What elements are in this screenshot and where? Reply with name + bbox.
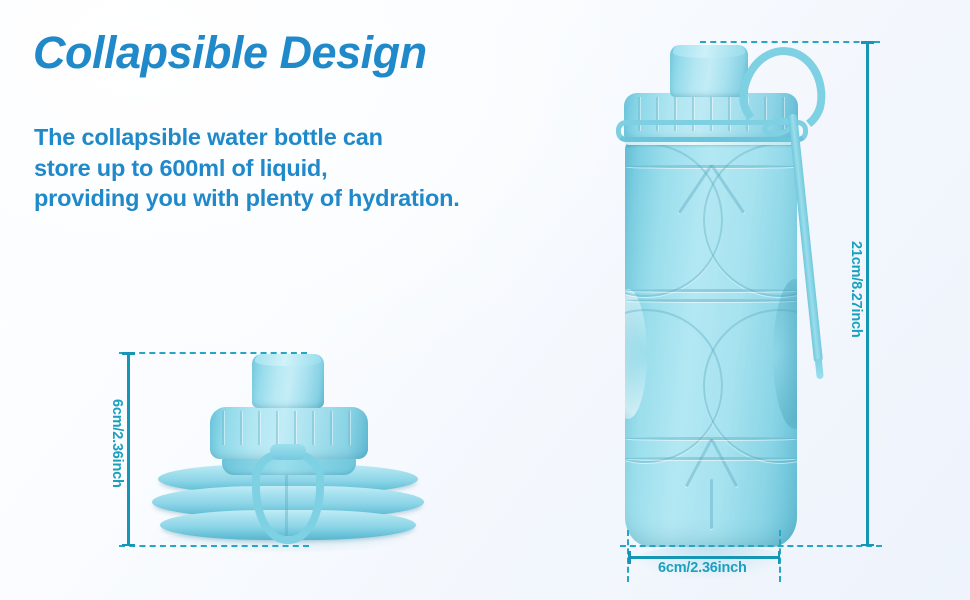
- bottle-folded-strap-knot: [270, 444, 306, 460]
- bottle-expanded-image: [612, 42, 827, 547]
- description-line-1: The collapsible water bottle can: [34, 122, 460, 153]
- description-text: The collapsible water bottle can store u…: [34, 122, 460, 214]
- dimension-line-width-bottom: [628, 556, 780, 559]
- dimension-label-width-bottom: 6cm/2.36inch: [658, 560, 747, 576]
- description-line-3: providing you with plenty of hydration.: [34, 183, 460, 214]
- dimension-label-height-right: 21cm/8.27inch: [848, 241, 864, 338]
- guide-line-top-left: [119, 352, 307, 354]
- bottle-folded-image: [148, 352, 428, 552]
- product-infographic: Collapsible Design The collapsible water…: [0, 0, 970, 600]
- bottle-folded-top-cap-face: [255, 354, 321, 366]
- dimension-line-height-left: [127, 352, 130, 546]
- guide-line-bottom-left: [119, 545, 309, 547]
- page-title: Collapsible Design: [33, 27, 427, 79]
- dimension-label-height-left: 6cm/2.36inch: [109, 399, 125, 488]
- description-line-2: store up to 600ml of liquid,: [34, 153, 460, 184]
- guide-line-bottom-right: [620, 545, 882, 547]
- guide-line-top-right: [700, 41, 880, 43]
- dimension-line-height-right: [866, 41, 869, 546]
- bottle-expanded-body: [625, 139, 797, 547]
- bottle-top-cap-face: [673, 45, 745, 58]
